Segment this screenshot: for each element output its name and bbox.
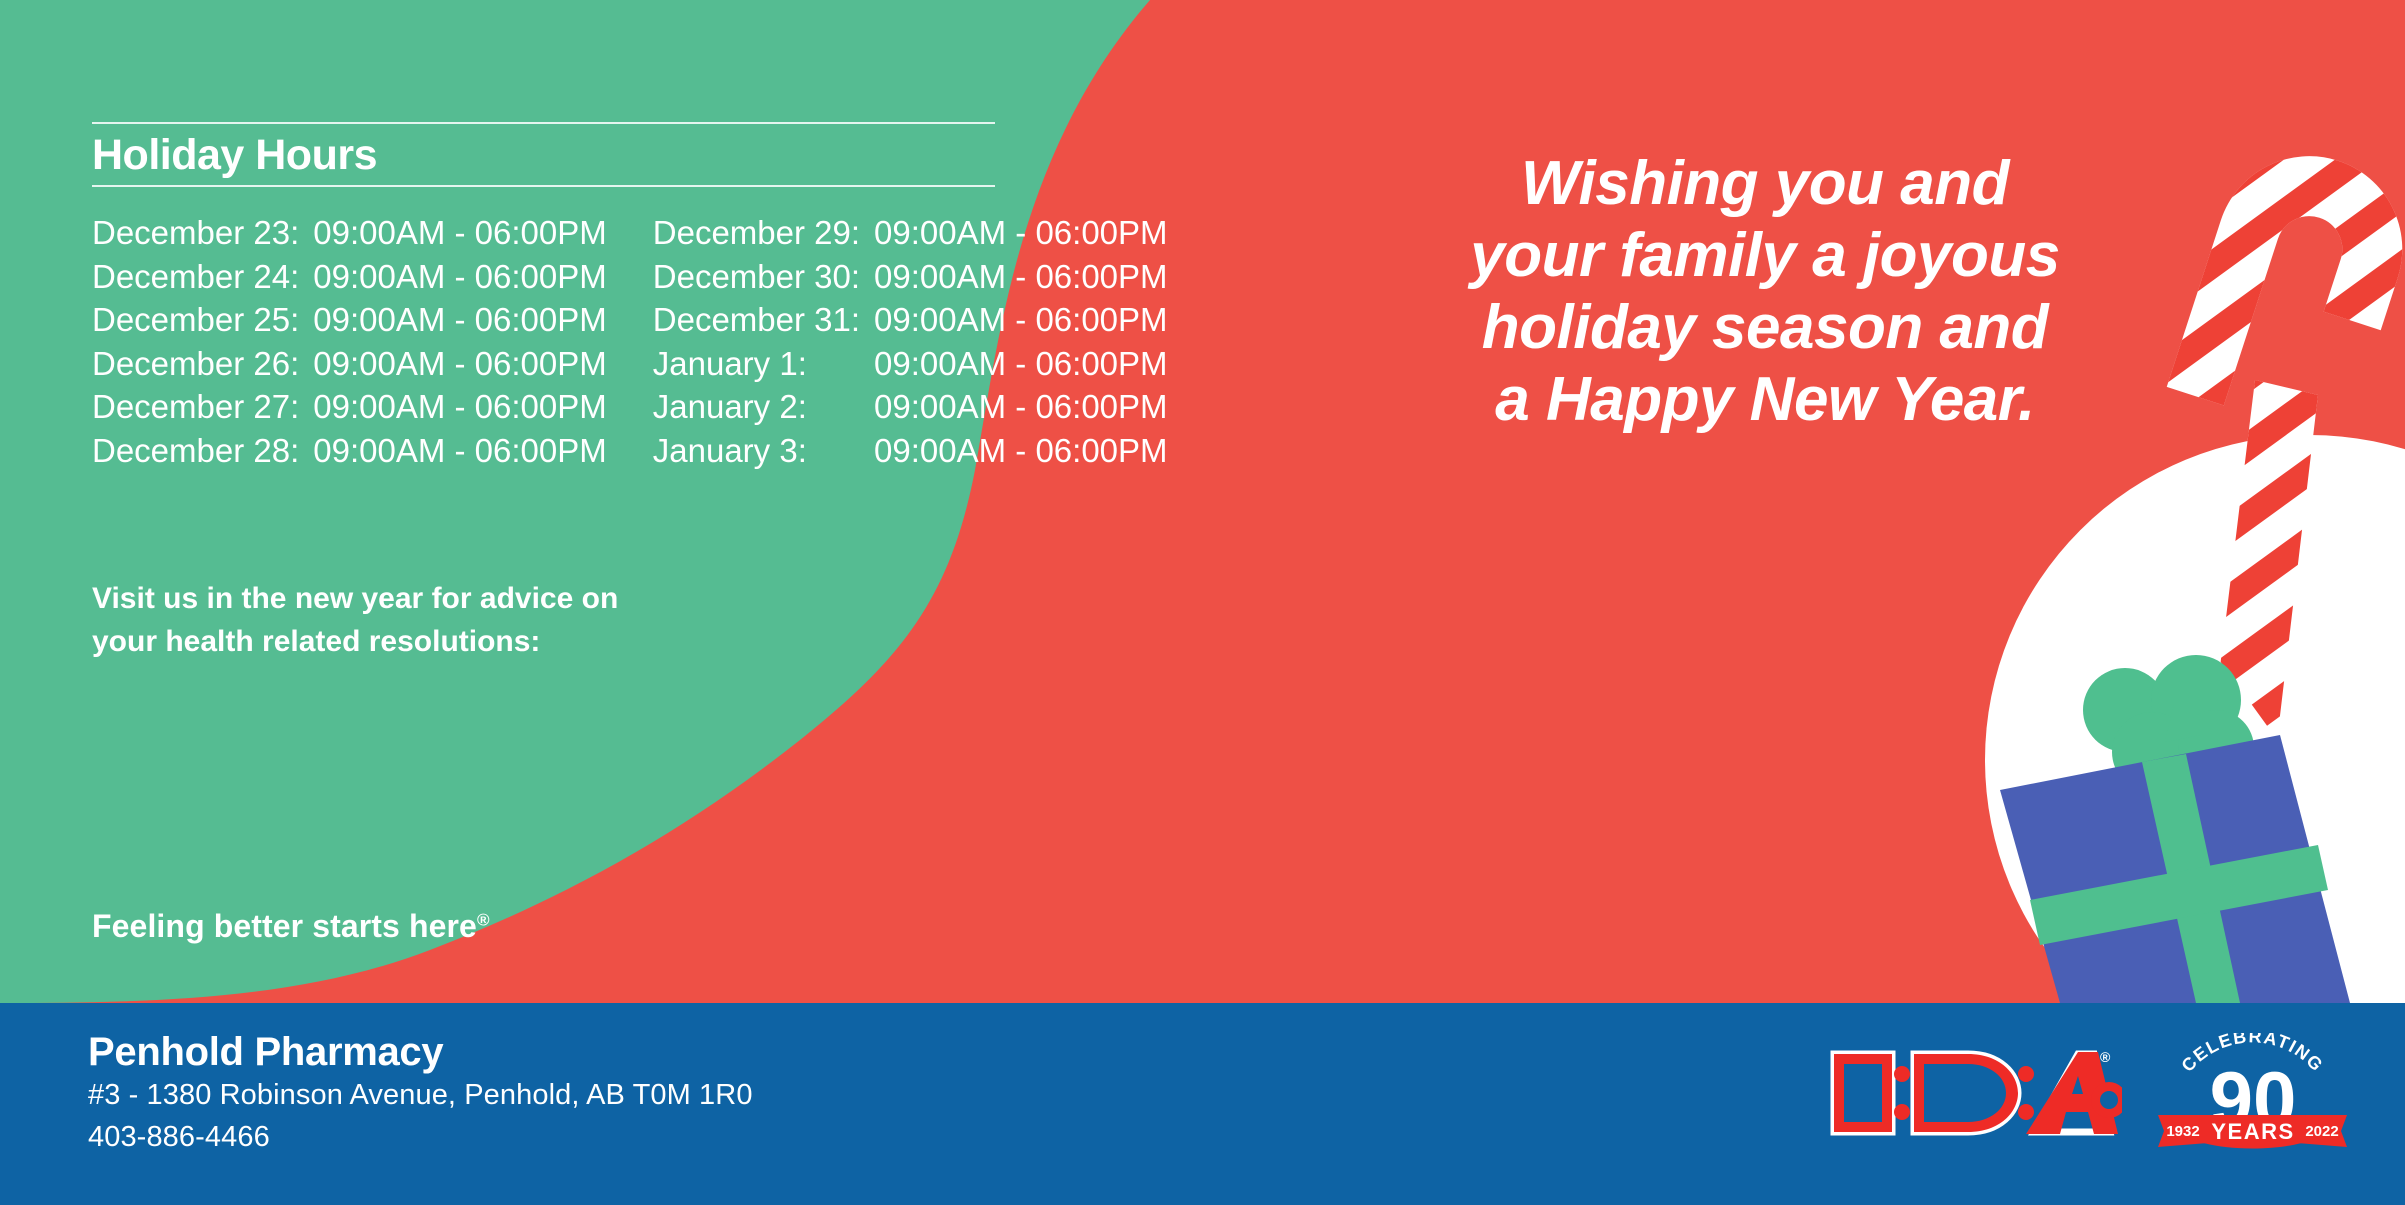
hours-day-label: December 24: xyxy=(92,255,313,299)
hours-row: December 23: 09:00AM - 06:00PM xyxy=(92,211,607,255)
hours-grid: December 23: 09:00AM - 06:00PM December … xyxy=(92,211,1102,472)
store-name: Penhold Pharmacy xyxy=(88,1029,753,1075)
brand-tagline-text: Feeling better starts here xyxy=(92,908,477,944)
hours-time-value: 09:00AM - 06:00PM xyxy=(874,429,1168,473)
hours-day-label: December 25: xyxy=(92,298,313,342)
hours-day-label: December 31: xyxy=(653,298,874,342)
hours-time-value: 09:00AM - 06:00PM xyxy=(313,342,607,386)
visit-note-line-1: Visit us in the new year for advice on xyxy=(92,578,618,621)
hours-row: January 2: 09:00AM - 06:00PM xyxy=(653,385,1168,429)
visit-note-line-2: your health related resolutions: xyxy=(92,621,618,664)
hours-time-value: 09:00AM - 06:00PM xyxy=(313,255,607,299)
hours-day-label: December 27: xyxy=(92,385,313,429)
hours-time-value: 09:00AM - 06:00PM xyxy=(874,255,1168,299)
hours-row: December 24: 09:00AM - 06:00PM xyxy=(92,255,607,299)
hours-time-value: 09:00AM - 06:00PM xyxy=(313,211,607,255)
hours-time-value: 09:00AM - 06:00PM xyxy=(313,385,607,429)
greeting-line-3: holiday season and xyxy=(1330,292,2200,364)
badge-years-text: YEARS xyxy=(2211,1119,2294,1144)
hours-time-value: 09:00AM - 06:00PM xyxy=(874,211,1168,255)
registered-trademark-icon: ® xyxy=(477,910,490,929)
greeting-line-2: your family a joyous xyxy=(1330,220,2200,292)
greeting-message: Wishing you and your family a joyous hol… xyxy=(1330,148,2200,436)
hours-column-left: December 23: 09:00AM - 06:00PM December … xyxy=(92,211,607,472)
ida-logo: ® xyxy=(1822,1038,2122,1148)
hours-time-value: 09:00AM - 06:00PM xyxy=(313,298,607,342)
hours-time-value: 09:00AM - 06:00PM xyxy=(313,429,607,473)
hours-row: December 31: 09:00AM - 06:00PM xyxy=(653,298,1168,342)
hours-day-label: January 1: xyxy=(653,342,874,386)
badge-year-start: 1932 xyxy=(2166,1123,2199,1140)
visit-note: Visit us in the new year for advice on y… xyxy=(92,578,618,663)
hours-day-label: December 26: xyxy=(92,342,313,386)
hours-row: December 29: 09:00AM - 06:00PM xyxy=(653,211,1168,255)
badge-year-end: 2022 xyxy=(2305,1123,2338,1140)
store-info: Penhold Pharmacy #3 - 1380 Robinson Aven… xyxy=(88,1029,753,1158)
hours-row: January 3: 09:00AM - 06:00PM xyxy=(653,429,1168,473)
holiday-hours-poster: Holiday Hours December 23: 09:00AM - 06:… xyxy=(0,0,2405,1205)
greeting-line-1: Wishing you and xyxy=(1330,148,2200,220)
anniversary-90-badge: CELEBRATING 90 1932 2022 YEARS xyxy=(2150,1033,2355,1153)
hours-time-value: 09:00AM - 06:00PM xyxy=(874,298,1168,342)
greeting-line-4: a Happy New Year. xyxy=(1330,364,2200,436)
hours-day-label: December 29: xyxy=(653,211,874,255)
hours-day-label: December 28: xyxy=(92,429,313,473)
hours-rule-bottom xyxy=(92,185,995,187)
hours-row: December 28: 09:00AM - 06:00PM xyxy=(92,429,607,473)
ida-registered-mark: ® xyxy=(2100,1049,2111,1065)
hours-row: December 26: 09:00AM - 06:00PM xyxy=(92,342,607,386)
hours-time-value: 09:00AM - 06:00PM xyxy=(874,342,1168,386)
store-phone: 403-886-4466 xyxy=(88,1117,753,1158)
footer-logo-group: ® CELEBRATING 90 1932 2022 YEARS xyxy=(1822,1033,2355,1153)
hours-day-label: January 2: xyxy=(653,385,874,429)
holiday-hours-block: Holiday Hours December 23: 09:00AM - 06:… xyxy=(92,122,1102,472)
hours-day-label: December 23: xyxy=(92,211,313,255)
footer-bar: Penhold Pharmacy #3 - 1380 Robinson Aven… xyxy=(0,1003,2405,1205)
hours-day-label: December 30: xyxy=(653,255,874,299)
hours-row: January 1: 09:00AM - 06:00PM xyxy=(653,342,1168,386)
hours-title: Holiday Hours xyxy=(92,124,1102,185)
hours-row: December 27: 09:00AM - 06:00PM xyxy=(92,385,607,429)
hours-row: December 25: 09:00AM - 06:00PM xyxy=(92,298,607,342)
hours-day-label: January 3: xyxy=(653,429,874,473)
hours-column-right: December 29: 09:00AM - 06:00PM December … xyxy=(653,211,1168,472)
store-address: #3 - 1380 Robinson Avenue, Penhold, AB T… xyxy=(88,1075,753,1116)
brand-tagline: Feeling better starts here® xyxy=(92,908,490,945)
hours-row: December 30: 09:00AM - 06:00PM xyxy=(653,255,1168,299)
hours-time-value: 09:00AM - 06:00PM xyxy=(874,385,1168,429)
